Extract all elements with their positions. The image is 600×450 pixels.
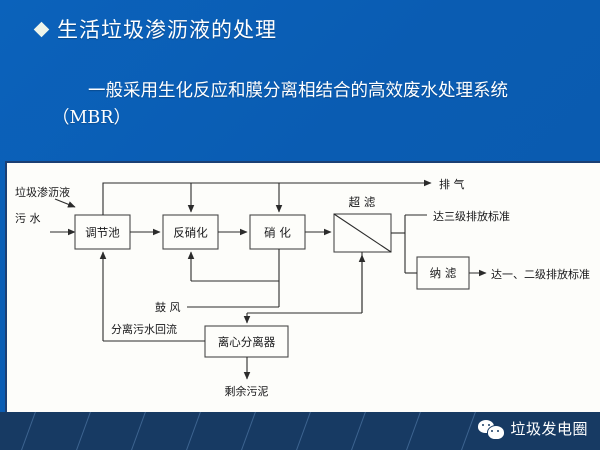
wechat-icon <box>478 419 504 439</box>
label-nanofiltration: 纳 滤 <box>430 266 457 280</box>
footer-stripe <box>181 412 206 450</box>
label-influent-leachate: 垃圾渗沥液 <box>15 185 70 199</box>
label-influent-sewage: 污 水 <box>15 212 41 225</box>
diamond-bullet-icon <box>34 21 50 37</box>
wechat-bubble-front <box>487 425 505 440</box>
page-title-text: 生活垃圾渗沥液的处理 <box>57 14 277 44</box>
footer-stripe <box>456 412 481 450</box>
footer-stripe <box>71 412 96 450</box>
footer-stripe <box>16 412 41 450</box>
slide-canvas: 生活垃圾渗沥液的处理 一般采用生化反应和膜分离相结合的高效废水处理系统（MBR） <box>0 0 600 450</box>
label-denitrification: 反硝化 <box>173 226 208 240</box>
process-flow-diagram: 垃圾渗沥液 污 水 调节池 反硝化 硝 化 超 滤 纳 滤 离心分离器 排 气 … <box>7 163 600 412</box>
footer-stripe <box>291 412 316 450</box>
watermark-text: 垃圾发电圈 <box>510 418 588 439</box>
label-excess-sludge: 剩余污泥 <box>225 384 269 398</box>
footer-bar: 垃圾发电圈 <box>0 412 600 450</box>
label-ultrafiltration: 超 滤 <box>349 195 376 209</box>
slide-subtitle: 一般采用生化反应和膜分离相结合的高效废水处理系统（MBR） <box>52 78 576 132</box>
footer-stripe <box>401 412 426 450</box>
watermark: 垃圾发电圈 <box>478 418 588 439</box>
footer-stripe <box>236 412 261 450</box>
label-centrifugal-separator: 离心分离器 <box>218 335 276 349</box>
page-title: 生活垃圾渗沥液的处理 <box>36 14 277 44</box>
label-grade-three-standard: 达三级排放标准 <box>433 209 510 223</box>
label-exhaust-gas: 排 气 <box>439 177 465 191</box>
label-blower: 鼓 风 <box>155 300 181 314</box>
process-flow-diagram-panel: 垃圾渗沥液 污 水 调节池 反硝化 硝 化 超 滤 纳 滤 离心分离器 排 气 … <box>5 161 600 412</box>
label-grade-one-two-standard: 达一、二级排放标准 <box>491 267 590 281</box>
label-separated-water-reflux: 分离污水回流 <box>111 322 177 336</box>
label-nitrification: 硝 化 <box>264 226 291 240</box>
footer-stripe <box>126 412 151 450</box>
label-equalization-tank: 调节池 <box>85 226 120 240</box>
footer-stripe <box>346 412 371 450</box>
